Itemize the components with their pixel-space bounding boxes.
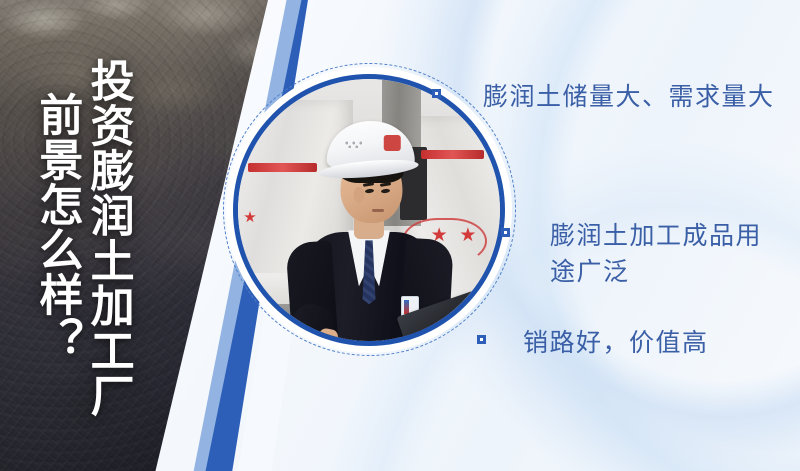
list-item: 销路好，价值高 <box>477 326 709 362</box>
square-marker-icon <box>501 228 510 237</box>
list-item: 膨润土储量大、需求量大 <box>432 80 775 116</box>
promo-banner: 投资膨润土加工厂 前景怎么样？ ★ ★ ★ <box>0 0 800 471</box>
bullet-text-2: 膨润土加工成品用 途广泛 <box>550 219 762 290</box>
bullet-text-3: 销路好，价值高 <box>523 326 709 362</box>
square-marker-icon <box>477 335 486 344</box>
list-item: 膨润土加工成品用 途广泛 <box>501 219 762 290</box>
feature-list: 膨润土储量大、需求量大 膨润土加工成品用 途广泛 销路好，价值高 <box>0 0 800 471</box>
square-marker-icon <box>432 89 441 98</box>
bullet-text-1: 膨润土储量大、需求量大 <box>483 80 775 116</box>
